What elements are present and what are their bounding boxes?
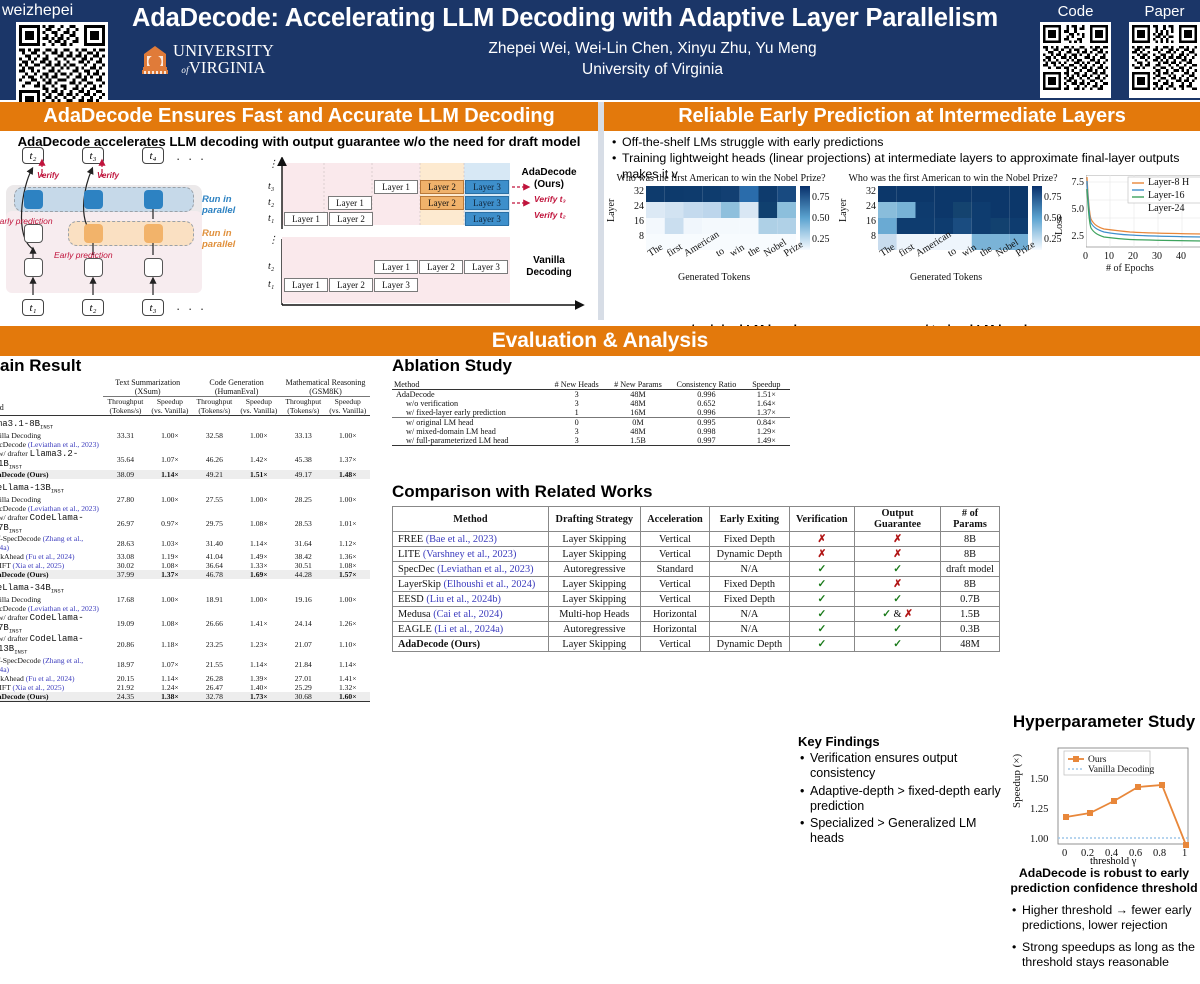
lyt-75: 7.5	[1062, 177, 1084, 188]
poster-header: weizhepei	[0, 0, 1200, 100]
comparison-params: 8B	[941, 577, 1000, 592]
row-cell: 28.53	[281, 513, 325, 535]
comparison-method: EESD (Liu et al., 2024b)	[393, 592, 549, 607]
ablation-method: w/ fixed-layer early prediction	[392, 408, 547, 418]
row-cell: 1.37×	[148, 570, 192, 579]
table-row-model: odeLlama-34BINST	[0, 579, 370, 595]
mr-bench-2: Mathematical Reasoning (GSM8K)	[281, 378, 370, 397]
table-row-model: odeLlama-13BINST	[0, 479, 370, 495]
comparison-cell: N/A	[710, 622, 789, 637]
comparison-cell: Autoregressive	[548, 622, 640, 637]
ab-h0: Method	[392, 380, 547, 390]
row-method: SWIFT (Xia et al., 2025)	[0, 561, 103, 570]
key-findings-block: Key Findings Verification ensures output…	[798, 734, 1010, 847]
ablation-cell: 0.995	[670, 418, 743, 428]
van-t1-layer3: Layer 3	[374, 278, 418, 292]
row-cell	[326, 440, 371, 449]
row-cell: 46.78	[192, 570, 236, 579]
list-item: Higher threshold → fewer early predictio…	[1022, 903, 1200, 933]
row-cell: 24.35	[103, 692, 147, 702]
row-cell	[192, 504, 236, 513]
row-cell: 1.07×	[148, 449, 192, 471]
table-row: Vanilla Decoding27.801.00×27.551.00×28.2…	[0, 495, 370, 504]
row-cell: 1.40×	[237, 683, 281, 692]
cb-025: 0.25	[812, 234, 830, 245]
model-group-label: odeLlama-34BINST	[0, 579, 370, 595]
ablation-cell: 3	[547, 390, 605, 400]
ab-h3: Consistency Ratio	[670, 380, 743, 390]
row-cell: 1.12×	[326, 534, 371, 552]
hp-legend-ours: Ours	[1088, 755, 1107, 765]
mr-sub-2b: Speedup(vs. Vanilla)	[326, 397, 371, 416]
hyperparameter-title: Hyperparameter Study	[1008, 712, 1200, 732]
figure-early-prediction: t₂ t₃ t₄ · · ·	[6, 159, 258, 317]
comparison-method: SpecDec (Leviathan et al., 2023)	[393, 562, 549, 577]
lxt-20: 20	[1128, 251, 1138, 262]
ablation-cell: 0.84×	[743, 418, 790, 428]
qr-code-code-svg	[1043, 25, 1108, 90]
comparison-cell: Vertical	[640, 532, 709, 547]
authors-row: UNIVERSITY ofVIRGINIA Zhepei Wei, Wei-Li…	[120, 39, 1010, 81]
mr-sub-0b: Speedup(vs. Vanilla)	[148, 397, 192, 416]
table-row: AdaDecode (Ours)37.991.37×46.781.69×44.2…	[0, 570, 370, 579]
row-cell	[326, 504, 371, 513]
row-cell	[192, 440, 236, 449]
comparison-method: LITE (Varshney et al., 2023)	[393, 547, 549, 562]
cell-low-3	[144, 258, 163, 277]
row-cell: 17.68	[103, 595, 147, 604]
row-cell: 1.00×	[237, 495, 281, 504]
row-cell: 1.36×	[326, 552, 371, 561]
comparison-cell: Vertical	[640, 592, 709, 607]
ablation-cell: 1.29×	[743, 427, 790, 436]
main-result-block: ain Result ethod Text Summarization (XSu…	[0, 356, 386, 702]
row-cell: 35.64	[103, 449, 147, 471]
row-method: w/ drafter Llama3.2-1BINST	[0, 449, 103, 471]
main-result-table: ethod Text Summarization (XSum) Code Gen…	[0, 378, 370, 702]
row-method: w/ drafter CodeLlama-7BINST	[0, 513, 103, 535]
row-cell: 33.08	[103, 552, 147, 561]
cmp-h3: Early Exiting	[710, 507, 789, 532]
comparison-verification: ✗	[789, 532, 854, 547]
main-result-thead: ethod Text Summarization (XSum) Code Gen…	[0, 378, 370, 416]
ada-t3-layer3: Layer 3	[465, 180, 509, 194]
ada-t1-layer1: Layer 1	[284, 212, 328, 226]
rotunda-svg	[142, 45, 168, 75]
table-row: SWIFT (Xia et al., 2025)30.021.08×36.641…	[0, 561, 370, 570]
authors-list: Zhepei Wei, Wei-Lin Chen, Xinyu Zhu, Yu …	[295, 39, 1010, 60]
row-cell: 19.09	[103, 613, 147, 635]
heatmap-right-colorbar	[1032, 186, 1042, 250]
svg-text:0.8: 0.8	[1153, 848, 1166, 859]
row-cell: 1.00×	[148, 495, 192, 504]
heatmap-right-grid	[878, 186, 1028, 250]
heatmap-original: Who was the first American to win the No…	[610, 173, 832, 276]
row-cell: 1.08×	[148, 613, 192, 635]
ablation-title: Ablation Study	[392, 356, 792, 376]
mr-bench-2-name: Mathematical Reasoning	[286, 378, 366, 387]
row-method: AdaDecode (Ours)	[0, 692, 103, 702]
cmp-h0: Method	[393, 507, 549, 532]
svg-text:1: 1	[1182, 848, 1187, 859]
mr-head-row-1: ethod Text Summarization (XSum) Code Gen…	[0, 378, 370, 397]
row-cell: 1.14×	[148, 674, 192, 683]
row-cell	[103, 440, 147, 449]
ablation-method: w/ original LM head	[392, 418, 547, 428]
comparison-params: draft model	[941, 562, 1000, 577]
yt2-16: 16	[854, 216, 876, 227]
row-cell: 33.31	[103, 431, 147, 440]
row-cell: 46.26	[192, 449, 236, 471]
row-cell: 36.64	[192, 561, 236, 570]
row-cell: 21.92	[103, 683, 147, 692]
row-cell: 49.21	[192, 470, 236, 479]
label-verify-1: Verify	[37, 171, 59, 180]
ablation-thead: Method # New Heads # New Params Consiste…	[392, 380, 790, 390]
comparison-method: EAGLE (Li et al., 2024a)	[393, 622, 549, 637]
row-cell: 28.63	[103, 534, 147, 552]
list-item: Verification ensures output consistency	[810, 751, 1010, 782]
heatmap-left-title: Who was the first American to win the No…	[610, 173, 832, 184]
row-cell: 1.26×	[326, 613, 371, 635]
comparison-table: Method Drafting Strategy Acceleration Ea…	[392, 506, 1000, 652]
row-cell: 31.40	[192, 534, 236, 552]
row-cell: 1.37×	[326, 449, 371, 471]
table-row: AdaDecode (Ours)Layer SkippingVerticalDy…	[393, 637, 1000, 652]
table-row: w/ original LM head00M0.9950.84×	[392, 418, 790, 428]
ablation-cell: 0	[547, 418, 605, 428]
table-row: Self-SpecDecode (Zhang et al., 2024a)18.…	[0, 656, 370, 674]
heatmaps-and-loss: Who was the first American to win the No…	[604, 173, 1200, 283]
row-cell: 1.00×	[326, 431, 371, 440]
row-cell: 21.55	[192, 656, 236, 674]
row-cell: 1.33×	[237, 561, 281, 570]
main-result-title: ain Result	[0, 356, 386, 376]
ablation-cell: 0.996	[670, 408, 743, 418]
comparison-tbody: FREE (Bae et al., 2023)Layer SkippingVer…	[393, 532, 1000, 652]
row-cell: 1.00×	[326, 595, 371, 604]
ablation-cell: 3	[547, 436, 605, 446]
row-method: AdaDecode (Ours)	[0, 470, 103, 479]
qr-code-svg	[19, 25, 105, 111]
comparison-thead: Method Drafting Strategy Acceleration Ea…	[393, 507, 1000, 532]
ablation-method: w/o verification	[392, 399, 547, 408]
table-row: AdaDecode348M0.9961.51×	[392, 390, 790, 400]
row-cell: 33.13	[281, 431, 325, 440]
comparison-cell: Horizontal	[640, 622, 709, 637]
ablation-cell: 3	[547, 399, 605, 408]
qr-paper-label: Paper	[1129, 3, 1200, 20]
van-tick-t2: t₂	[268, 261, 274, 272]
row-cell: 1.51×	[237, 470, 281, 479]
qr-code-link[interactable]	[1040, 22, 1111, 98]
row-cell: 1.08×	[237, 513, 281, 535]
heatmap-left-colorbar	[800, 186, 810, 250]
yt-16: 16	[622, 216, 644, 227]
legend-layer16: Layer-16	[1148, 190, 1189, 201]
comparison-verification: ✓	[789, 592, 854, 607]
cb-075: 0.75	[812, 192, 830, 203]
comparison-cell: Fixed Depth	[710, 532, 789, 547]
ada-name-l1: AdaDecode	[514, 167, 584, 179]
row-cell: 1.08×	[148, 561, 192, 570]
svg-text:1.50: 1.50	[1030, 774, 1048, 785]
uva-wordmark: UNIVERSITY ofVIRGINIA	[173, 43, 274, 76]
hyperparameter-chart: Speedup (×) 1.50 1.25 1.00	[1008, 734, 1198, 862]
ada-t1-layer3: Layer 3	[465, 212, 509, 226]
model-group-label: odeLlama-13BINST	[0, 479, 370, 495]
qr-left-code[interactable]	[16, 22, 108, 114]
table-row: LayerSkip (Elhoushi et al., 2024)Layer S…	[393, 577, 1000, 592]
svg-text:0: 0	[1062, 848, 1067, 859]
heatmap-right-yticks: 32 24 16 8	[854, 186, 876, 242]
tl-tick-t3: t₃	[268, 181, 274, 192]
table-row: w/ mixed-domain LM head348M0.9981.29×	[392, 427, 790, 436]
cmp-h4: Verification	[789, 507, 854, 532]
ablation-cell: 3	[547, 427, 605, 436]
heatmap-trained: Who was the first American to win the No…	[842, 173, 1064, 276]
table-row: EESD (Liu et al., 2024b)Layer SkippingVe…	[393, 592, 1000, 607]
uva-virginia: VIRGINIA	[189, 58, 266, 77]
comparison-guarantee: ✓	[855, 637, 941, 652]
comparison-cell: Vertical	[640, 547, 709, 562]
cb-050: 0.50	[812, 213, 830, 224]
row-cell: 1.60×	[326, 692, 371, 702]
table-row: w/o verification348M0.6521.64×	[392, 399, 790, 408]
table-row: w/ drafter CodeLlama-7BINST19.091.08×26.…	[0, 613, 370, 635]
row-cell	[148, 440, 192, 449]
row-cell: 27.01	[281, 674, 325, 683]
row-method: AdaDecode (Ours)	[0, 570, 103, 579]
ablation-cell: 1.64×	[743, 399, 790, 408]
comparison-cell: Layer Skipping	[548, 532, 640, 547]
comparison-verification: ✓	[789, 637, 854, 652]
label-run-parallel-orange: Run in parallel	[202, 228, 258, 250]
loss-curve-chart: Loss 7.5 5.0 2.5	[1056, 173, 1200, 283]
row-cell: 27.80	[103, 495, 147, 504]
row-method: SpecDecode (Leviathan et al., 2023)	[0, 604, 103, 613]
model-group-label: lama3.1-8BINST	[0, 416, 370, 431]
row-cell: 38.09	[103, 470, 147, 479]
mr-bench-2-ds: (GSM8K)	[309, 387, 341, 396]
row-cell	[281, 504, 325, 513]
row-cell: 26.28	[192, 674, 236, 683]
figure-timeline: ⋮ t₃ t₂ t₁ Layer 1 Layer 2 Layer 3 Layer…	[262, 157, 596, 317]
comparison-title: Comparison with Related Works	[392, 482, 1004, 502]
table-row: Vanilla Decoding17.681.00×18.911.00×19.1…	[0, 595, 370, 604]
yt-24: 24	[622, 201, 644, 212]
qr-paper-link[interactable]	[1129, 22, 1200, 98]
comparison-cell: N/A	[710, 607, 789, 622]
hyperparameter-block: Hyperparameter Study Speedup (×) 1.50 1.…	[1008, 712, 1200, 984]
cmp-h5: Output Guarantee	[855, 507, 941, 532]
table-row: SpecDec (Leviathan et al., 2023)Autoregr…	[393, 562, 1000, 577]
row-method: Vanilla Decoding	[0, 495, 103, 504]
row-cell: 1.00×	[237, 431, 281, 440]
row-method: w/ drafter CodeLlama-13BINST	[0, 634, 103, 656]
row-cell: 30.68	[281, 692, 325, 702]
verify-t3-label: Verify t₃	[534, 194, 566, 204]
ada-t2-layer3: Layer 3	[465, 196, 509, 210]
table-row: w/ full-parameterized LM head31.5B0.9971…	[392, 436, 790, 446]
lyt-50: 5.0	[1062, 204, 1084, 215]
mr-sub-2a: Throughput(Tokens/s)	[281, 397, 325, 416]
heatmap-right-title: Who was the first American to win the No…	[842, 173, 1064, 184]
comparison-method: Medusa (Cai et al., 2024)	[393, 607, 549, 622]
row-cell: 1.41×	[237, 613, 281, 635]
row-cell: 31.64	[281, 534, 325, 552]
list-item: Adaptive-depth > fixed-depth early predi…	[810, 784, 1010, 815]
legend-layer24: Layer-24	[1148, 203, 1189, 214]
ablation-cell: 0.997	[670, 436, 743, 446]
ab-h2: # New Params	[606, 380, 670, 390]
comparison-verification: ✓	[789, 562, 854, 577]
svg-text:1.00: 1.00	[1030, 834, 1048, 845]
table-row: SpecDecode (Leviathan et al., 2023)	[0, 604, 370, 613]
row-cell: 20.15	[103, 674, 147, 683]
ablation-cell: 1.5B	[606, 436, 670, 446]
row-cell	[281, 604, 325, 613]
token-t1-bottom: t₁	[22, 299, 44, 316]
row-cell	[237, 440, 281, 449]
heatmap-left-cbar-ticks: 0.75 0.50 0.25	[812, 192, 830, 245]
comparison-block: Comparison with Related Works Method Dra…	[392, 482, 1004, 652]
vanilla-name: Vanilla Decoding	[514, 255, 584, 279]
affiliation: University of Virginia	[295, 60, 1010, 81]
van-tick-t1: t₁	[268, 279, 274, 290]
cmp-head-row: Method Drafting Strategy Acceleration Ea…	[393, 507, 1000, 532]
cell-early-2	[144, 224, 163, 243]
mr-method-header: ethod	[0, 378, 103, 416]
ablation-cell: 1.37×	[743, 408, 790, 418]
cmp-h6: # of Params	[941, 507, 1000, 532]
row-cell: 1.00×	[148, 595, 192, 604]
comparison-cell: Layer Skipping	[548, 577, 640, 592]
ablation-method: AdaDecode	[392, 390, 547, 400]
row-cell: 1.14×	[237, 534, 281, 552]
row-cell	[103, 604, 147, 613]
label-run-parallel-blue: Run in parallel	[202, 194, 258, 216]
ablation-cell: 48M	[606, 427, 670, 436]
comparison-guarantee: ✓	[855, 592, 941, 607]
van-t2-layer3: Layer 3	[464, 260, 508, 274]
comparison-cell: Autoregressive	[548, 562, 640, 577]
qr-paper-col: Paper	[1129, 3, 1200, 98]
hyperparameter-note: AdaDecode is robust to early prediction …	[1008, 866, 1200, 896]
label-early-prediction-1: Early prediction	[0, 216, 53, 226]
hyperparameter-svg: Speedup (×) 1.50 1.25 1.00	[1008, 734, 1198, 862]
row-method: SpecDecode (Leviathan et al., 2023)	[0, 440, 103, 449]
row-cell: 1.32×	[326, 683, 371, 692]
tl-tick-t2: t₂	[268, 197, 274, 208]
right-panel: Off-the-shelf LMs struggle with early pr…	[604, 131, 1200, 321]
table-row: FREE (Bae et al., 2023)Layer SkippingVer…	[393, 532, 1000, 547]
section-banner-eval: Evaluation & Analysis	[0, 326, 1200, 356]
comparison-verification: ✓	[789, 607, 854, 622]
row-cell: 37.99	[103, 570, 147, 579]
table-row: LITE (Varshney et al., 2023)Layer Skippi…	[393, 547, 1000, 562]
comparison-guarantee: ✗	[855, 577, 941, 592]
ab-h4: Speedup	[743, 380, 790, 390]
list-item: Specialized > Generalized LM heads	[810, 816, 1010, 847]
row-cell: 1.69×	[237, 570, 281, 579]
vanilla-name-l2: Decoding	[514, 267, 584, 279]
comparison-cell: Layer Skipping	[548, 637, 640, 652]
yt2-24: 24	[854, 201, 876, 212]
row-cell	[237, 604, 281, 613]
main-result-tbody: lama3.1-8BINSTVanilla Decoding33.311.00×…	[0, 416, 370, 702]
table-row: SpecDecode (Leviathan et al., 2023)	[0, 440, 370, 449]
row-cell: 1.38×	[148, 692, 192, 702]
row-method: w/ drafter CodeLlama-7BINST	[0, 613, 103, 635]
row-cell: 1.03×	[148, 534, 192, 552]
section-banner-right: Reliable Early Prediction at Intermediat…	[604, 102, 1200, 131]
row-cell	[192, 604, 236, 613]
heatmap-left-yticks: 32 24 16 8	[622, 186, 644, 242]
row-cell: 24.14	[281, 613, 325, 635]
row-cell: 28.25	[281, 495, 325, 504]
row-cell: 26.66	[192, 613, 236, 635]
lxt-40: 40	[1176, 251, 1186, 262]
row-cell: 1.00×	[326, 495, 371, 504]
qr-right-block: Code	[1040, 3, 1200, 98]
cell-final-3	[144, 190, 163, 209]
comparison-cell: N/A	[710, 562, 789, 577]
row-cell: 1.49×	[237, 552, 281, 561]
row-cell: 1.14×	[326, 656, 371, 674]
row-cell: 41.04	[192, 552, 236, 561]
row-cell: 1.42×	[237, 449, 281, 471]
hp-ylabel: Speedup (×)	[1011, 754, 1023, 808]
row-cell	[326, 604, 371, 613]
ablation-head-row: Method # New Heads # New Params Consiste…	[392, 380, 790, 390]
row-cell: 26.97	[103, 513, 147, 535]
mr-bench-1-ds: (HumanEval)	[215, 387, 259, 396]
van-t1-layer2: Layer 2	[329, 278, 373, 292]
cmp-h1: Drafting Strategy	[548, 507, 640, 532]
comparison-cell: Fixed Depth	[710, 577, 789, 592]
mr-bench-0-name: Text Summarization	[115, 378, 180, 387]
ablation-cell: 16M	[606, 408, 670, 418]
heatmap-right-xlabel: Generated Tokens	[910, 272, 982, 283]
row-cell: 45.38	[281, 449, 325, 471]
page-title: AdaDecode: Accelerating LLM Decoding wit…	[120, 4, 1010, 33]
right-bullet-1: Off-the-shelf LMs struggle with early pr…	[622, 134, 1194, 150]
row-cell: 32.58	[192, 431, 236, 440]
left-panel: AdaDecode accelerates LLM decoding with …	[0, 131, 598, 319]
row-cell: 25.29	[281, 683, 325, 692]
comparison-cell: Standard	[640, 562, 709, 577]
row-cell: 1.14×	[148, 470, 192, 479]
lxt-10: 10	[1104, 251, 1114, 262]
comparison-verification: ✓	[789, 622, 854, 637]
ada-t3-layer1: Layer 1	[374, 180, 418, 194]
table-row-model: lama3.1-8BINST	[0, 416, 370, 431]
tl-tick-t1: t₁	[268, 213, 274, 224]
row-method: Self-SpecDecode (Zhang et al., 2024a)	[0, 534, 103, 552]
yt2-32: 32	[854, 186, 876, 197]
row-cell: 19.16	[281, 595, 325, 604]
cell-final-2	[84, 190, 103, 209]
comparison-guarantee: ✓	[855, 622, 941, 637]
row-method: Self-SpecDecode (Zhang et al., 2024a)	[0, 656, 103, 674]
bottom-dots: · · ·	[176, 301, 206, 316]
evaluation-section: ain Result ethod Text Summarization (XSu…	[0, 356, 1200, 628]
yt-8: 8	[622, 231, 644, 242]
mr-bench-1: Code Generation (HumanEval)	[192, 378, 281, 397]
ablation-method: w/ mixed-domain LM head	[392, 427, 547, 436]
uva-of: of	[181, 65, 188, 75]
